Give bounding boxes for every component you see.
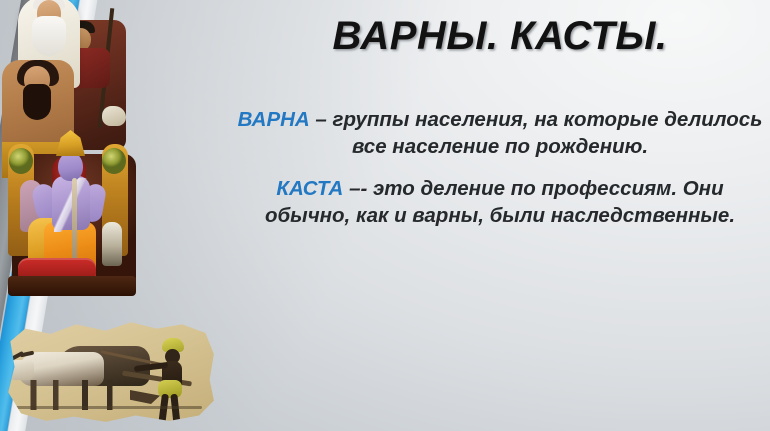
term-varna: ВАРНА [238, 108, 310, 131]
beard-shape [23, 84, 51, 120]
slide-title: ВАРНЫ. КАСТЫ. [236, 14, 764, 59]
ploughing-scene-image [4, 318, 216, 424]
oil-lamp-shape [102, 222, 122, 266]
sash-shape [54, 178, 88, 232]
crown-shape [56, 130, 85, 156]
ground-line [12, 406, 202, 409]
definitions-block: ВАРНА – группы населения, на которые дел… [236, 106, 764, 229]
beard-shape [32, 16, 66, 56]
presentation-slide: ВАРНЫ. КАСТЫ. ВАРНА – группы населения, … [0, 0, 770, 431]
term-kasta: КАСТА [276, 177, 343, 200]
throne-orb-right [102, 148, 126, 174]
clay-pot-shape [102, 106, 126, 126]
definition-kasta: КАСТА –- это деление по профессиям. Они … [236, 175, 764, 230]
face-shape [58, 152, 83, 181]
pedestal-shape [8, 276, 136, 296]
throne-orb-left [9, 148, 33, 174]
farmer-figure [156, 338, 186, 410]
definition-varna-text: – группы населения, на которые делилось … [310, 108, 763, 158]
definition-varna: ВАРНА – группы населения, на которые дел… [236, 106, 764, 161]
hindu-deity-image [6, 126, 142, 304]
